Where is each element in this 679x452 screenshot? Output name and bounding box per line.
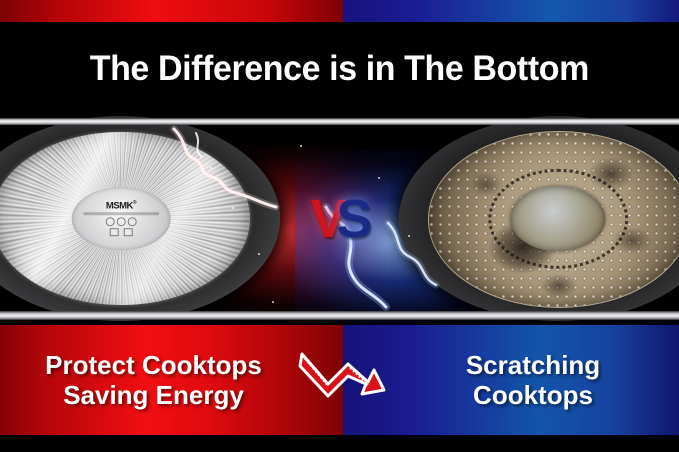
spark-dot (232, 207, 234, 209)
bottom-black-bar (0, 435, 679, 452)
induction-icon (105, 217, 114, 226)
electric-icon (127, 217, 136, 226)
product-comparison-poster: The Difference is in The Bottom MSMK® (0, 0, 679, 452)
claim-negative-text: Scratching Cooktops (466, 350, 600, 410)
gas-icon (116, 217, 125, 226)
hub-badge-row-1 (105, 217, 136, 226)
claim-positive-text: Protect Cooktops Saving Energy (45, 350, 262, 410)
photo-bottom-metal-rim (0, 311, 679, 320)
hub-badge-row-2 (109, 228, 132, 236)
headline-area: The Difference is in The Bottom (0, 22, 679, 115)
dishwasher-icon (109, 228, 118, 236)
spark-dot (258, 253, 260, 255)
spark-dot (378, 177, 380, 179)
spark-dot (352, 275, 354, 277)
claim-red-side: Protect Cooktops Saving Energy (0, 325, 343, 435)
left-pan-bottom: MSMK® (0, 116, 280, 321)
spark-dot (272, 301, 274, 303)
spark-dot (300, 145, 302, 147)
spark-dot (408, 235, 410, 237)
rust-ring (488, 168, 628, 268)
spark-dot (210, 167, 212, 169)
brand-name: MSMK (106, 200, 133, 211)
right-pan-bottom (399, 116, 679, 321)
oven-safe-icon (123, 228, 132, 236)
top-bar-blue-half (343, 0, 679, 22)
versus-mark: VS (310, 192, 368, 246)
trademark-symbol: ® (133, 200, 136, 206)
brand-logo: MSMK® (106, 201, 136, 211)
downward-zigzag-arrow-icon (298, 340, 388, 398)
claim-blue-side: Scratching Cooktops (343, 325, 679, 435)
top-bar-red-half (0, 0, 343, 22)
photo-top-metal-rim (0, 118, 679, 125)
pan-center-hub: MSMK® (72, 187, 171, 251)
hub-microtext (84, 212, 159, 215)
versus-s-letter: S (337, 189, 369, 249)
comparison-photo: MSMK® (0, 115, 679, 322)
top-color-bar (0, 0, 679, 22)
page-title: The Difference is in The Bottom (90, 49, 589, 89)
